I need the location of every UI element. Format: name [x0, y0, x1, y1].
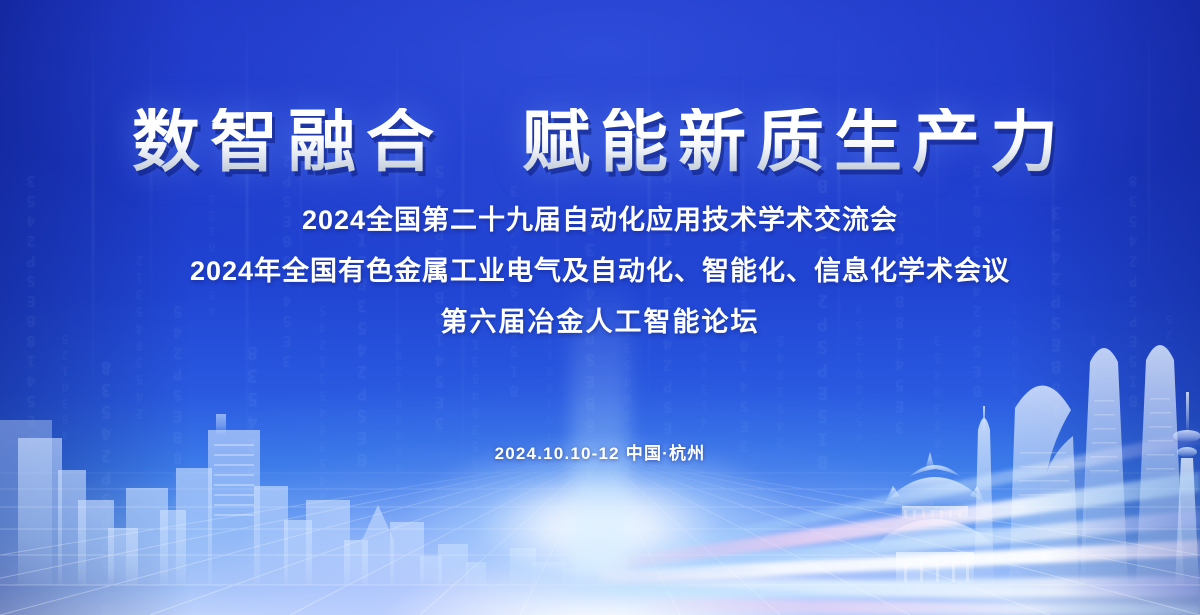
- date-location-label: 2024.10.10-12 中国·杭州: [495, 439, 706, 464]
- subtitle-line-2: 2024年全国有色金属工业电气及自动化、智能化、信息化学术会议: [190, 249, 1010, 288]
- page-title: 数智融合 赋能新质生产力: [132, 108, 1068, 176]
- subtitle-line-3: 第六届冶金人工智能论坛: [441, 300, 760, 339]
- subtitle-line-1: 2024全国第二十九届自动化应用技术学术交流会: [302, 198, 898, 237]
- banner-content: 数智融合 赋能新质生产力 2024全国第二十九届自动化应用技术学术交流会 202…: [0, 0, 1200, 615]
- conference-banner: 3E5418BESP24534530125BIS2PSP245382453845…: [0, 0, 1200, 615]
